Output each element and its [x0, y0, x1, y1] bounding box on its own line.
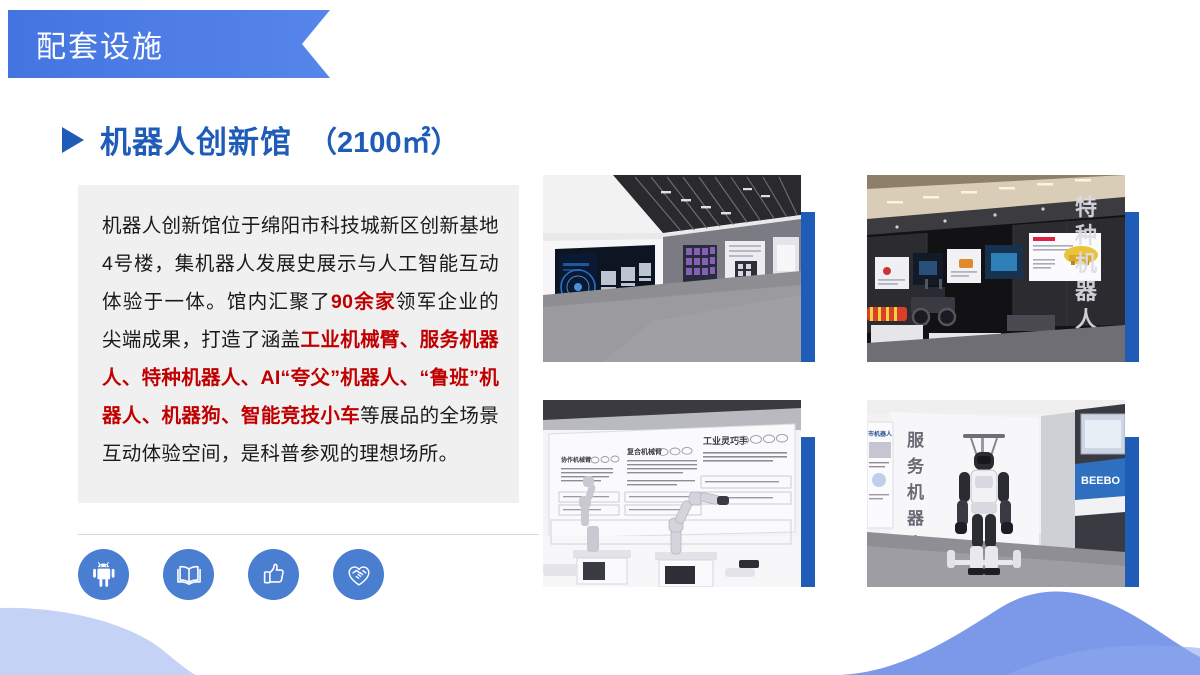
svg-text:协作机械臂: 协作机械臂: [561, 456, 591, 464]
page-title: 机器人创新馆: [100, 117, 292, 162]
banner-title: 配套设施: [36, 10, 164, 78]
svg-text:市机器人: 市机器人: [868, 430, 893, 438]
svg-text:服: 服: [907, 431, 925, 450]
feature-icon-row: [78, 549, 384, 600]
desc-highlight-count: 90余家: [331, 291, 396, 313]
photo-industrial-arms: 协作机械臂 复合机械臂 工业灵巧手: [543, 400, 801, 587]
open-book-icon[interactable]: [163, 549, 214, 600]
svg-text:种: 种: [1075, 223, 1097, 248]
header-banner: 配套设施: [8, 10, 330, 78]
wave-right-highlight: [1005, 646, 1200, 675]
triangle-bullet-icon: [62, 127, 84, 153]
description-panel: 机器人创新馆位于绵阳市科技城新区创新基地4号楼，集机器人发展史展示与人工智能互动…: [78, 185, 519, 503]
svg-text:复合机械臂: 复合机械臂: [626, 447, 662, 456]
svg-text:机: 机: [907, 482, 924, 502]
svg-text:器: 器: [1074, 279, 1098, 304]
photo-special-robots: 特种 机器人: [867, 175, 1125, 362]
photo-service-humanoid: 服务 机器人 市机器人 BEEBO: [867, 400, 1125, 587]
svg-text:机: 机: [1075, 251, 1097, 276]
wave-left-blob: [0, 608, 196, 675]
svg-text:BEEBO: BEEBO: [1081, 475, 1121, 487]
description-text: 机器人创新馆位于绵阳市科技城新区创新基地4号楼，集机器人发展史展示与人工智能互动…: [102, 207, 499, 473]
handshake-heart-icon[interactable]: [333, 549, 384, 600]
wave-right-shape: [840, 592, 1200, 675]
svg-text:特: 特: [1075, 195, 1097, 220]
photo-exhibition-hall: [543, 175, 801, 362]
divider-line: [78, 534, 539, 535]
slide-root: 配套设施 机器人创新馆 （2100㎡） 机器人创新馆位于绵阳市科技城新区创新基地…: [0, 0, 1200, 675]
section-title: 机器人创新馆 （2100㎡）: [62, 117, 460, 162]
thumbs-up-icon[interactable]: [248, 549, 299, 600]
svg-text:器: 器: [906, 509, 925, 528]
svg-text:务: 务: [907, 456, 925, 476]
page-title-area: （2100㎡）: [308, 119, 460, 161]
android-robot-icon[interactable]: [78, 549, 129, 600]
